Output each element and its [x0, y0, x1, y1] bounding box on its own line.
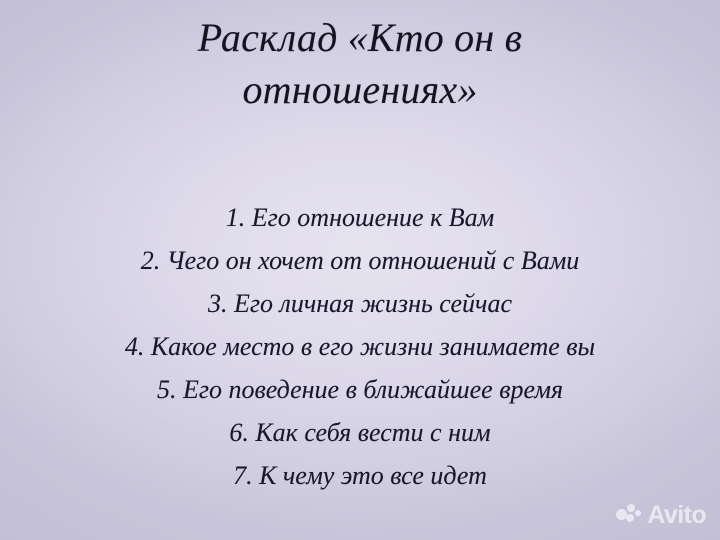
poster-image: Расклад «Кто он в отношениях» 1. Его отн…: [0, 0, 720, 540]
list-item: 4. Какое место в его жизни занимаете вы: [0, 325, 720, 368]
list-item: 6. Как себя вести с ним: [0, 411, 720, 454]
list-item: 3. Его личная жизнь сейчас: [0, 282, 720, 325]
avito-watermark: Avito: [616, 503, 706, 528]
avito-dots-logo-icon: [616, 504, 643, 528]
list-item: 7. К чему это все идет: [0, 454, 720, 497]
title-line-1: Расклад «Кто он в: [0, 12, 720, 64]
list-item: 2. Чего он хочет от отношений с Вами: [0, 239, 720, 282]
list-item: 5. Его поведение в ближайшее время: [0, 368, 720, 411]
avito-wordmark: Avito: [647, 503, 706, 528]
list-item: 1. Его отношение к Вам: [0, 196, 720, 239]
title-line-2: отношениях»: [0, 64, 720, 116]
page-title: Расклад «Кто он в отношениях»: [0, 12, 720, 116]
spread-positions-list: 1. Его отношение к Вам 2. Чего он хочет …: [0, 196, 720, 497]
